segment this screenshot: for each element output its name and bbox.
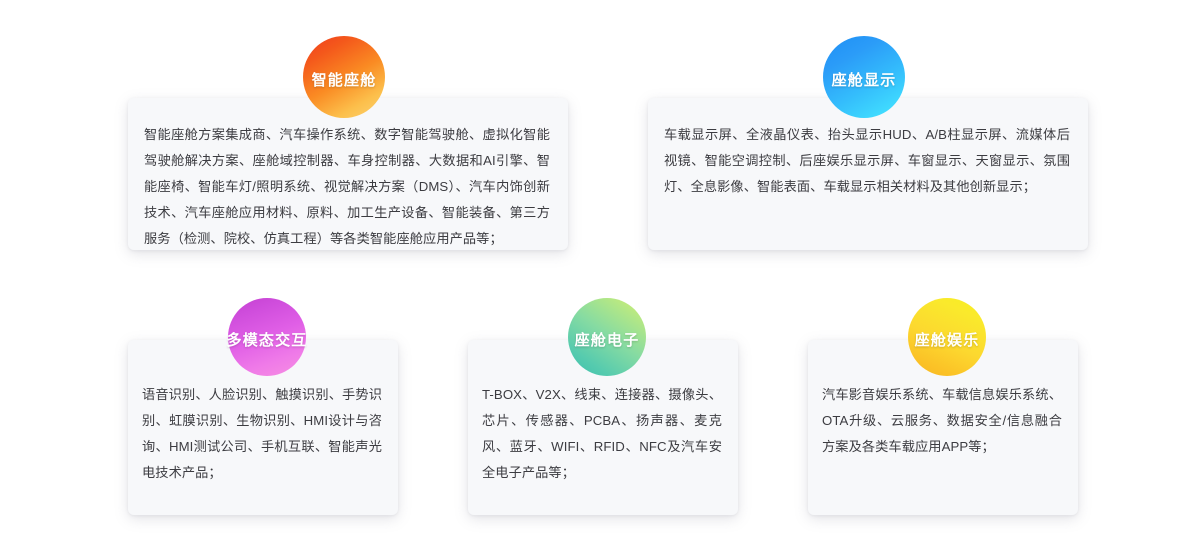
badge-cockpit-entertainment[interactable]: 座舱娱乐 [908, 298, 986, 376]
card-cockpit-entertainment-description: 汽车影音娱乐系统、车载信息娱乐系统、OTA升级、云服务、数据安全/信息融合方案及… [808, 382, 1078, 460]
badge-multimodal-label: 多模态交互 [227, 329, 308, 350]
card-smart-cockpit-description: 智能座舱方案集成商、汽车操作系统、数字智能驾驶舱、虚拟化智能驾驶舱解决方案、座舱… [128, 122, 568, 252]
badge-cockpit-electronics[interactable]: 座舱电子 [568, 298, 646, 376]
card-smart-cockpit[interactable]: 智能座舱方案集成商、汽车操作系统、数字智能驾驶舱、虚拟化智能驾驶舱解决方案、座舱… [128, 98, 568, 250]
category-cards-board: 智能座舱方案集成商、汽车操作系统、数字智能驾驶舱、虚拟化智能驾驶舱解决方案、座舱… [0, 0, 1200, 550]
badge-cockpit-display-label: 座舱显示 [832, 69, 897, 90]
badge-multimodal[interactable]: 多模态交互 [228, 298, 306, 376]
badge-smart-cockpit[interactable]: 智能座舱 [303, 36, 385, 118]
badge-cockpit-display[interactable]: 座舱显示 [823, 36, 905, 118]
card-cockpit-electronics-description: T-BOX、V2X、线束、连接器、摄像头、芯片、传感器、PCBA、扬声器、麦克风… [468, 382, 738, 486]
card-cockpit-display[interactable]: 车载显示屏、全液晶仪表、抬头显示HUD、A/B柱显示屏、流媒体后视镜、智能空调控… [648, 98, 1088, 250]
badge-cockpit-electronics-label: 座舱电子 [575, 329, 640, 350]
card-cockpit-display-description: 车载显示屏、全液晶仪表、抬头显示HUD、A/B柱显示屏、流媒体后视镜、智能空调控… [648, 122, 1088, 200]
badge-smart-cockpit-label: 智能座舱 [312, 69, 377, 90]
card-multimodal-description: 语音识别、人脸识别、触摸识别、手势识别、虹膜识别、生物识别、HMI设计与咨询、H… [128, 382, 398, 486]
badge-cockpit-entertainment-label: 座舱娱乐 [915, 329, 980, 350]
